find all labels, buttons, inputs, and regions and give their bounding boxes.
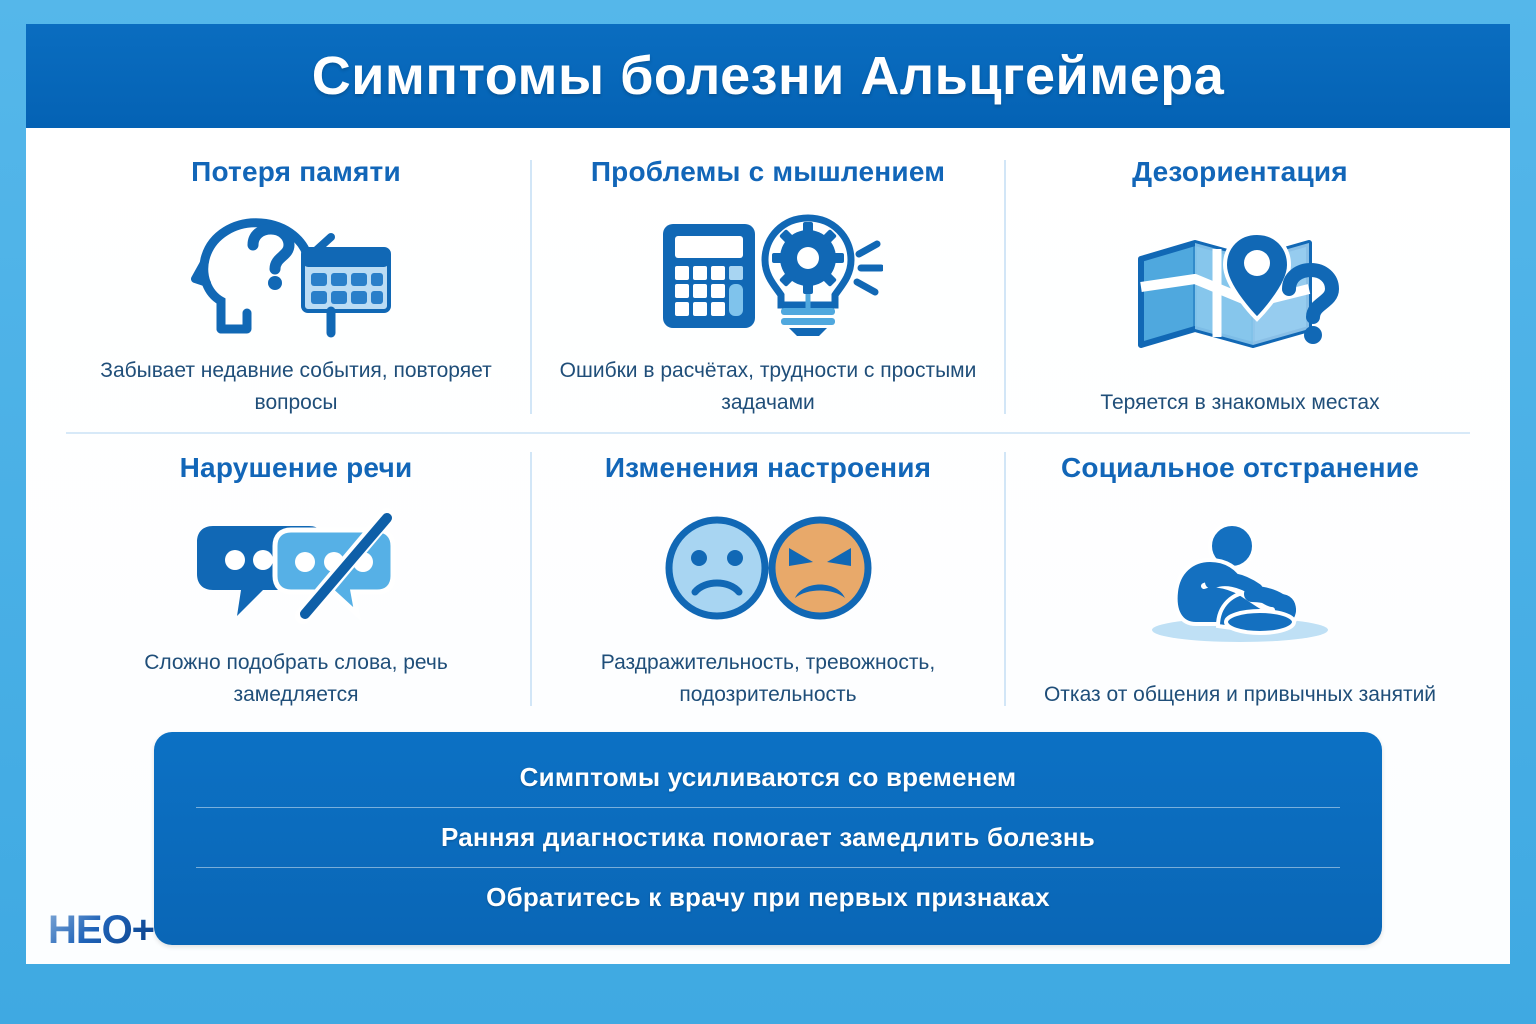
symptom-card-mood-changes[interactable]: Изменения настроения Раздражительность, … [532, 434, 1004, 724]
page-title: Симптомы болезни Альцгеймера [312, 45, 1225, 107]
brand-logo: НЕО+ [48, 910, 154, 950]
symptom-card-disorientation[interactable]: Дезориентация [1004, 142, 1476, 432]
symptom-description: Раздражительность, тревожность, подозрит… [558, 647, 978, 714]
symptom-description: Теряется в знакомых местах [1100, 387, 1379, 423]
poster-root: Симптомы болезни Альцгеймера Потеря памя… [26, 24, 1510, 964]
banner-line-3-plain: Обратитесь [486, 882, 648, 912]
speech-bubbles-slash-icon [78, 488, 514, 647]
symptom-description: Ошибки в расчётах, трудности с простыми … [558, 355, 978, 422]
symptom-title: Изменения настроения [605, 452, 931, 484]
symptom-title: Нарушение речи [180, 452, 413, 484]
symptom-grid: Потеря памяти [60, 142, 1476, 432]
key-messages-banner: Симптомы усиливаются со временем Ранняя … [154, 732, 1382, 945]
symptom-card-thinking-problems[interactable]: Проблемы с мышлением [532, 142, 1004, 432]
banner-line-2: Ранняя диагностика помогает замедлить бо… [154, 808, 1382, 867]
map-pin-question-icon [1022, 192, 1458, 387]
banner-line-3: Обратитесь к врачу при первых признаках [154, 868, 1382, 927]
symptom-title: Проблемы с мышлением [591, 156, 945, 188]
head-question-calendar-icon [78, 192, 514, 355]
footer-zone: Симптомы усиливаются со временем Ранняя … [60, 724, 1476, 964]
poster-content: Потеря памяти [26, 128, 1510, 964]
symptom-grid-row-2: Нарушение речи [60, 434, 1476, 724]
banner-line-3-bold: к врачу [648, 882, 745, 912]
calculator-lightbulb-gear-icon [550, 192, 986, 355]
symptom-description: Забывает недавние события, повторяет воп… [86, 355, 506, 422]
symptom-title: Социальное отстранение [1061, 452, 1419, 484]
banner-line-1-bold: со временем [848, 762, 1017, 792]
symptom-card-memory-loss[interactable]: Потеря памяти [60, 142, 532, 432]
symptom-description: Отказ от общения и привычных занятий [1044, 679, 1436, 715]
symptom-card-speech-impairment[interactable]: Нарушение речи [60, 434, 532, 724]
symptom-title: Потеря памяти [191, 156, 401, 188]
banner-line-3-tail: при первых признаках [745, 882, 1050, 912]
symptom-title: Дезориентация [1132, 156, 1348, 188]
sad-angry-faces-icon [550, 488, 986, 647]
banner-line-2-plain: Ранняя диагностика помогает [441, 822, 839, 852]
banner-line-2-bold: замедлить болезнь [839, 822, 1095, 852]
person-sitting-alone-icon [1022, 488, 1458, 679]
poster-header: Симптомы болезни Альцгеймера [26, 24, 1510, 128]
banner-line-1-plain: Симптомы усиливаются [520, 762, 848, 792]
symptom-description: Сложно подобрать слова, речь замедляется [86, 647, 506, 714]
banner-line-1: Симптомы усиливаются со временем [154, 748, 1382, 807]
symptom-card-social-withdrawal[interactable]: Социальное отстранение Отказ от общения … [1004, 434, 1476, 724]
